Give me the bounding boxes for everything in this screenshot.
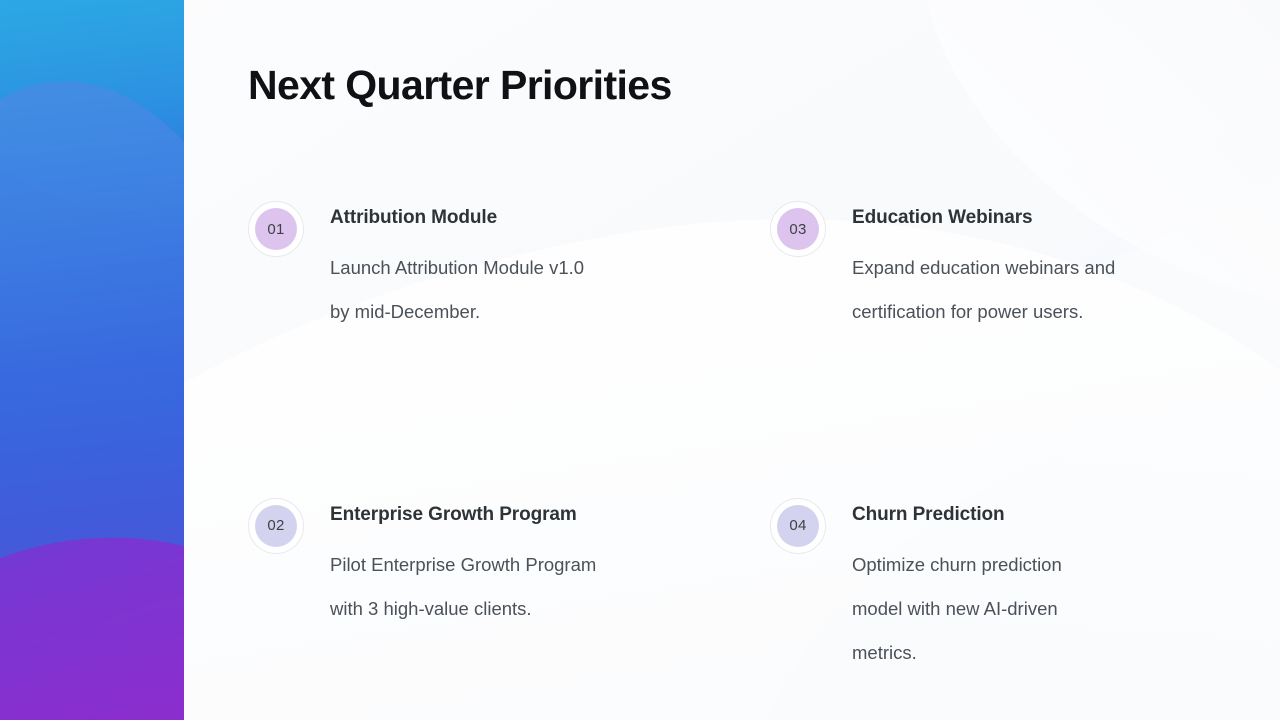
- priority-body-02: Enterprise Growth Program Pilot Enterpri…: [330, 505, 596, 631]
- priority-number-01: 01: [255, 208, 297, 250]
- priority-description-04-line-1: Optimize churn prediction: [852, 543, 1062, 587]
- priority-item-01[interactable]: 01 Attribution Module Launch Attribution…: [248, 208, 770, 334]
- priority-description-02-line-1: Pilot Enterprise Growth Program: [330, 543, 596, 587]
- priority-badge-02: 02: [248, 498, 304, 554]
- priority-body-01: Attribution Module Launch Attribution Mo…: [330, 208, 584, 334]
- priority-title-03: Education Webinars: [852, 208, 1115, 229]
- priority-description-03-line-1: Expand education webinars and: [852, 246, 1115, 290]
- priority-description-04-line-3: metrics.: [852, 631, 1062, 675]
- priority-item-03[interactable]: 03 Education Webinars Expand education w…: [770, 208, 1238, 334]
- priority-description-01: Launch Attribution Module v1.0 by mid-De…: [330, 246, 584, 334]
- priority-badge-01: 01: [248, 201, 304, 257]
- priority-badge-04: 04: [770, 498, 826, 554]
- priority-description-01-line-1: Launch Attribution Module v1.0: [330, 246, 584, 290]
- priority-item-04[interactable]: 04 Churn Prediction Optimize churn predi…: [770, 505, 1238, 675]
- priorities-grid: 01 Attribution Module Launch Attribution…: [248, 208, 1238, 675]
- priority-badge-03: 03: [770, 201, 826, 257]
- priority-description-02-line-2: with 3 high-value clients.: [330, 587, 596, 631]
- priority-title-01: Attribution Module: [330, 208, 584, 229]
- priority-title-04: Churn Prediction: [852, 505, 1062, 526]
- priority-description-03: Expand education webinars and certificat…: [852, 246, 1115, 334]
- priority-description-04: Optimize churn prediction model with new…: [852, 543, 1062, 675]
- priority-number-03: 03: [777, 208, 819, 250]
- gradient-sidebar: [0, 0, 184, 720]
- priority-number-04: 04: [777, 505, 819, 547]
- priority-description-01-line-2: by mid-December.: [330, 290, 584, 334]
- priority-body-04: Churn Prediction Optimize churn predicti…: [852, 505, 1062, 675]
- priority-description-04-line-2: model with new AI-driven: [852, 587, 1062, 631]
- priority-description-03-line-2: certification for power users.: [852, 290, 1115, 334]
- page-title: Next Quarter Priorities: [248, 62, 672, 109]
- priority-item-02[interactable]: 02 Enterprise Growth Program Pilot Enter…: [248, 505, 770, 675]
- priority-body-03: Education Webinars Expand education webi…: [852, 208, 1115, 334]
- slide: Next Quarter Priorities 01 Attribution M…: [0, 0, 1280, 720]
- priority-description-02: Pilot Enterprise Growth Program with 3 h…: [330, 543, 596, 631]
- priority-number-02: 02: [255, 505, 297, 547]
- priority-title-02: Enterprise Growth Program: [330, 505, 596, 526]
